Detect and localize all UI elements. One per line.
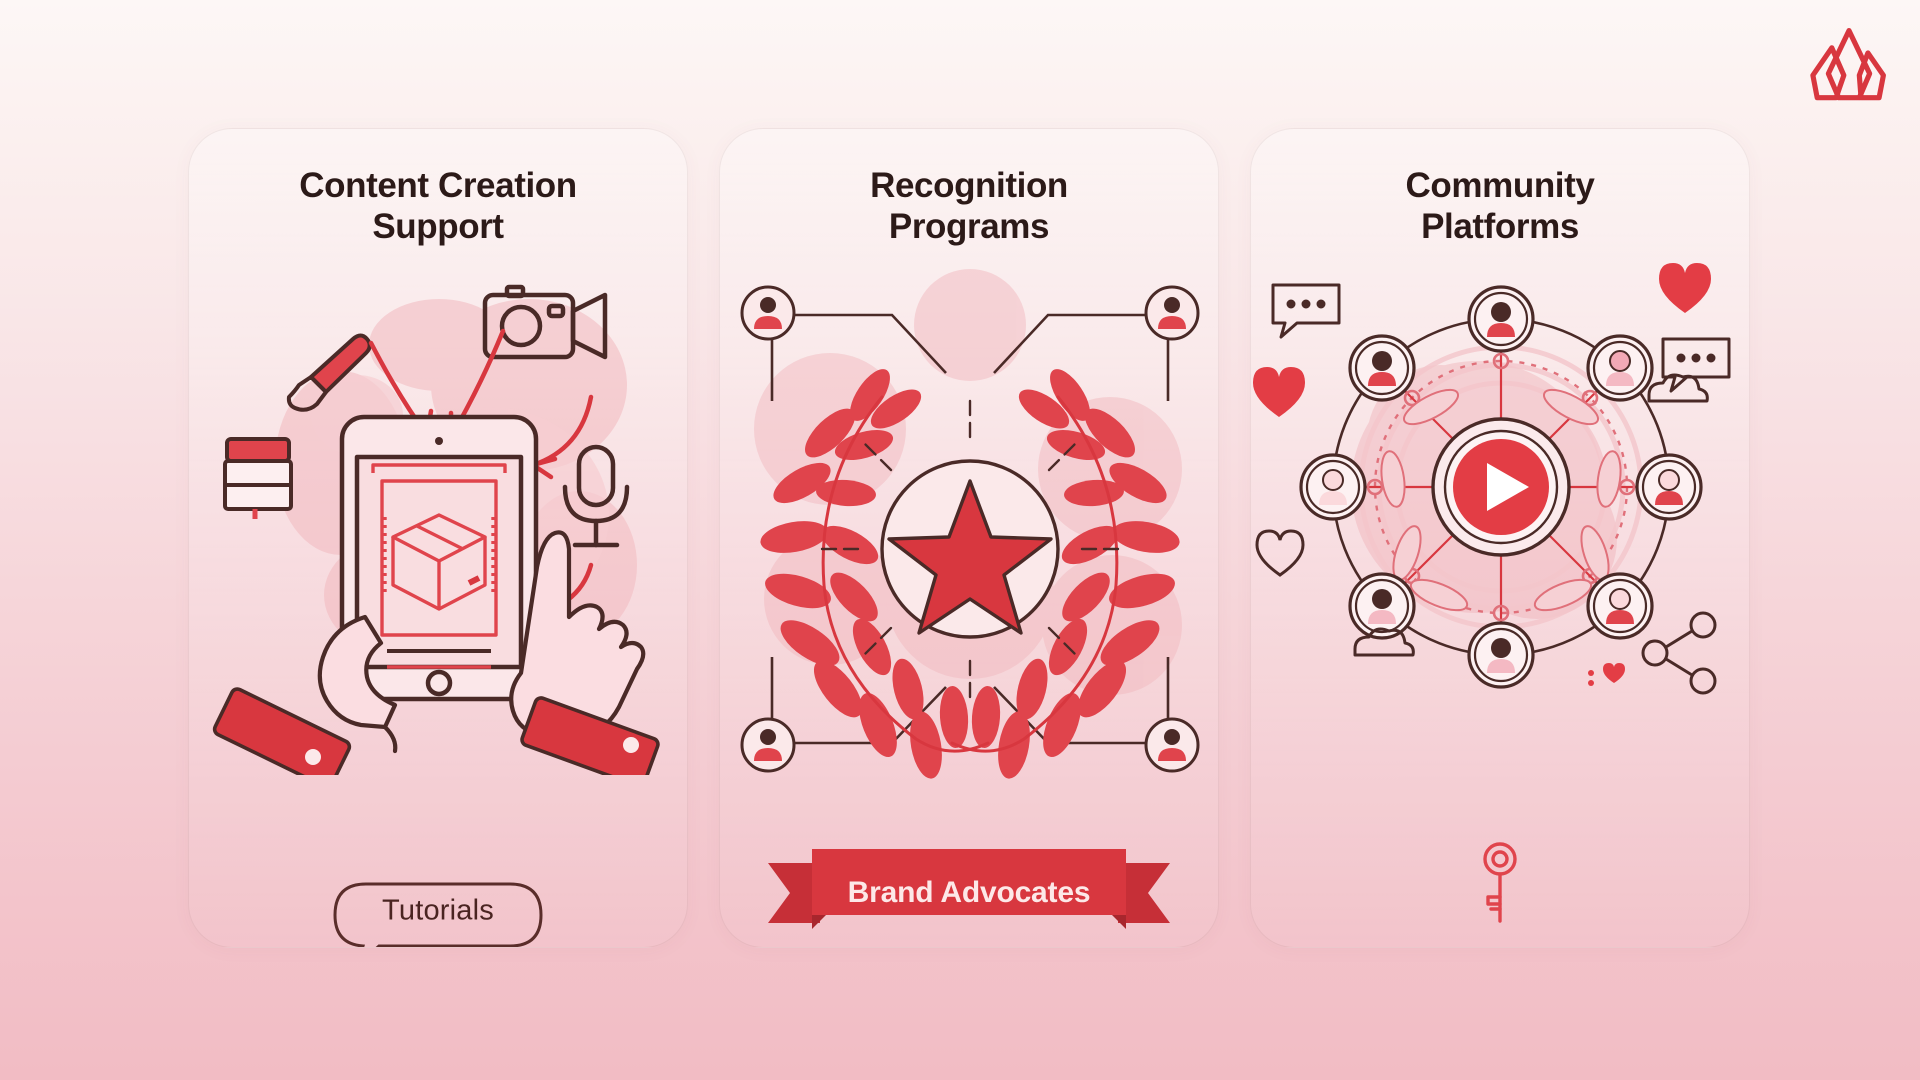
card-title-line1: Content Creation <box>189 165 687 206</box>
card-rail: Content Creation Support <box>188 128 1750 948</box>
reaction-icon <box>1588 663 1625 686</box>
card-recognition-programs[interactable]: Recognition Programs <box>719 128 1219 948</box>
tablet-content-creation-illustration <box>189 265 688 775</box>
card-title-line1: Recognition <box>720 165 1218 206</box>
heart-icon <box>1659 263 1711 313</box>
avatar-icon <box>1469 287 1533 351</box>
exclusive-resources-line1: Exclusive <box>1251 941 1749 948</box>
card-title: Community Platforms <box>1251 165 1749 248</box>
avatar-icon <box>1301 455 1365 519</box>
card-title: Content Creation Support <box>189 165 687 248</box>
card-community-platforms[interactable]: Community Platforms <box>1250 128 1750 948</box>
card-title: Recognition Programs <box>720 165 1218 248</box>
card-title-line1: Community <box>1251 165 1749 206</box>
avatar-icon <box>1588 574 1652 638</box>
exclusive-resources-heading: Exclusive Resources <box>1251 941 1749 948</box>
key-icon <box>1473 841 1527 925</box>
heart-icon <box>1253 367 1305 417</box>
chat-bubble-icon <box>1273 285 1339 337</box>
card-title-line2: Support <box>189 206 687 247</box>
avatar-icon <box>1637 455 1701 519</box>
avatar-icon <box>1350 336 1414 400</box>
chat-bubble-icon <box>1663 339 1729 391</box>
card-title-line2: Platforms <box>1251 206 1749 247</box>
play-button-icon <box>1433 419 1569 555</box>
heart-icon <box>1257 531 1303 575</box>
share-nodes-icon <box>1643 613 1715 693</box>
paint-tube-icon <box>225 439 291 519</box>
ribbon-label: Brand Advocates <box>848 876 1091 910</box>
avatar-icon <box>1469 623 1533 687</box>
tutorials-label: Tutorials <box>382 895 494 928</box>
card-content-creation-support[interactable]: Content Creation Support <box>188 128 688 948</box>
card-title-line2: Programs <box>720 206 1218 247</box>
laurel-wreath-star-award-illustration <box>720 269 1219 789</box>
community-network-wheel-illustration <box>1251 257 1750 717</box>
avatar-icon <box>1588 336 1652 400</box>
brand-logo[interactable] <box>1806 22 1892 108</box>
cloud-icon <box>1649 375 1707 401</box>
